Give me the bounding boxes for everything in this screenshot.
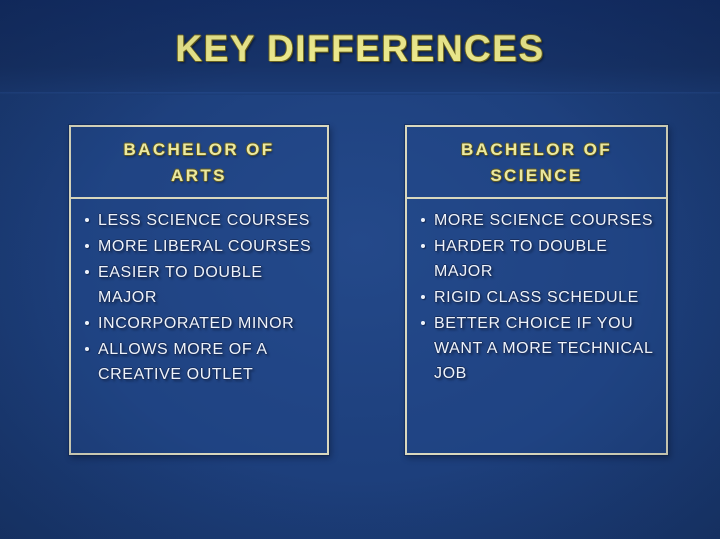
column-body-bachelor-of-science: MORE SCIENCE COURSES HARDER TO DOUBLE MA… — [407, 199, 666, 393]
list-item: MORE SCIENCE COURSES — [419, 208, 658, 233]
bullet-list-bachelor-of-science: MORE SCIENCE COURSES HARDER TO DOUBLE MA… — [419, 208, 658, 386]
column-header-bachelor-of-arts: BACHELOR OF ARTS — [71, 127, 327, 199]
list-item: ALLOWS MORE OF A CREATIVE OUTLET — [83, 337, 319, 387]
list-item: RIGID CLASS SCHEDULE — [419, 285, 658, 310]
bullet-dot-icon — [85, 321, 89, 325]
list-item-label: ALLOWS MORE OF A CREATIVE OUTLET — [98, 337, 319, 387]
bullet-dot-icon — [85, 347, 89, 351]
column-header-line-1: BACHELOR OF — [123, 137, 274, 163]
list-item-label: MORE SCIENCE COURSES — [434, 208, 658, 233]
column-bachelor-of-science: BACHELOR OF SCIENCE MORE SCIENCE COURSES… — [405, 125, 668, 455]
list-item-label: HARDER TO DOUBLE MAJOR — [434, 234, 658, 284]
slide-canvas: KEY DIFFERENCES BACHELOR OF ARTS LESS SC… — [0, 0, 720, 539]
bullet-list-bachelor-of-arts: LESS SCIENCE COURSES MORE LIBERAL COURSE… — [83, 208, 319, 387]
list-item: HARDER TO DOUBLE MAJOR — [419, 234, 658, 284]
page-title: KEY DIFFERENCES — [0, 27, 720, 71]
column-header-line-1: BACHELOR OF — [461, 137, 612, 163]
list-item-label: MORE LIBERAL COURSES — [98, 234, 319, 259]
list-item: LESS SCIENCE COURSES — [83, 208, 319, 233]
list-item-label: EASIER TO DOUBLE MAJOR — [98, 260, 319, 310]
list-item-label: RIGID CLASS SCHEDULE — [434, 285, 658, 310]
list-item: EASIER TO DOUBLE MAJOR — [83, 260, 319, 310]
list-item-label: LESS SCIENCE COURSES — [98, 208, 319, 233]
bullet-dot-icon — [85, 244, 89, 248]
bullet-dot-icon — [421, 321, 425, 325]
list-item: MORE LIBERAL COURSES — [83, 234, 319, 259]
column-header-line-2: ARTS — [171, 163, 227, 189]
list-item: BETTER CHOICE IF YOU WANT A MORE TECHNIC… — [419, 311, 658, 386]
bullet-dot-icon — [421, 295, 425, 299]
list-item-label: BETTER CHOICE IF YOU WANT A MORE TECHNIC… — [434, 311, 658, 386]
bullet-dot-icon — [85, 218, 89, 222]
column-header-line-2: SCIENCE — [490, 163, 582, 189]
bullet-dot-icon — [85, 270, 89, 274]
column-bachelor-of-arts: BACHELOR OF ARTS LESS SCIENCE COURSES MO… — [69, 125, 329, 455]
bullet-dot-icon — [421, 218, 425, 222]
column-header-bachelor-of-science: BACHELOR OF SCIENCE — [407, 127, 666, 199]
list-item-label: INCORPORATED MINOR — [98, 311, 319, 336]
bullet-dot-icon — [421, 244, 425, 248]
list-item: INCORPORATED MINOR — [83, 311, 319, 336]
column-body-bachelor-of-arts: LESS SCIENCE COURSES MORE LIBERAL COURSE… — [71, 199, 327, 394]
